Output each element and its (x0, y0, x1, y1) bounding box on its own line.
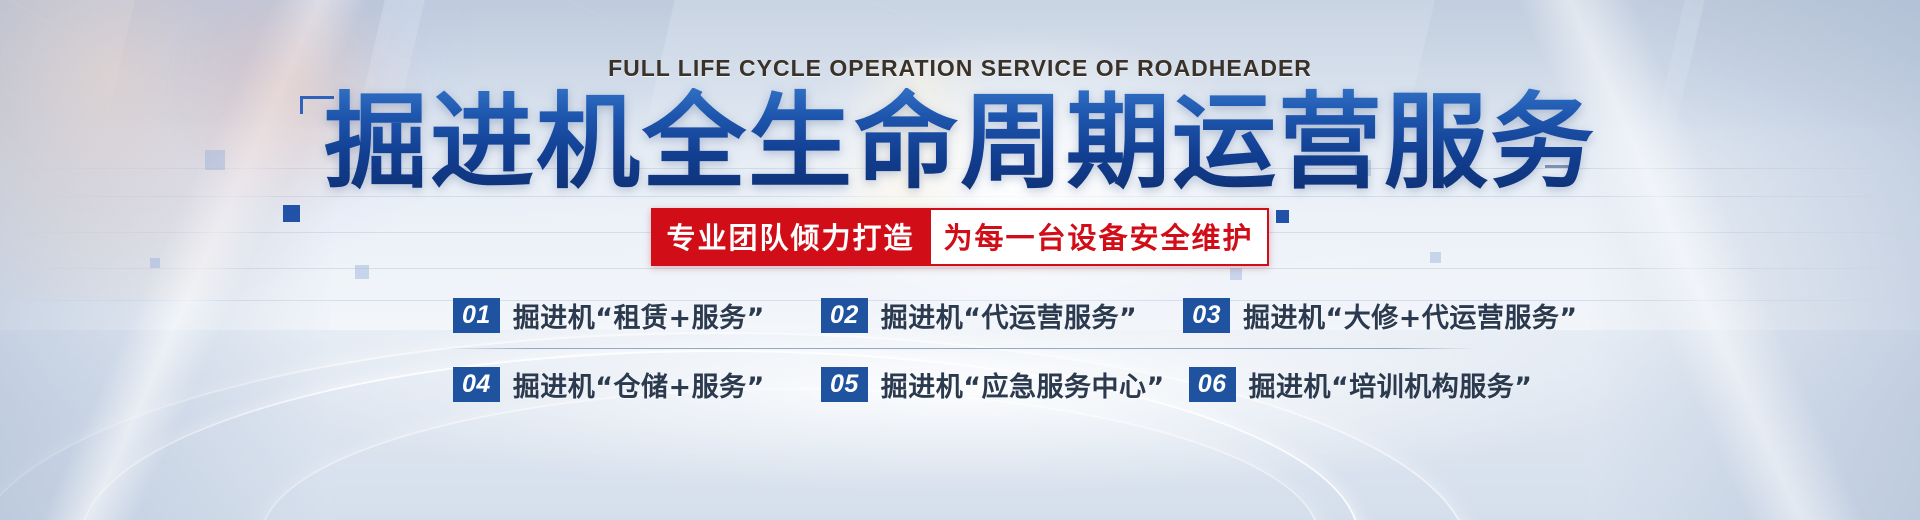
service-label: 掘进机“仓储+服务” (513, 365, 765, 404)
service-item-04[interactable]: 04 掘进机“仓储+服务” (453, 365, 765, 404)
service-item-03[interactable]: 03 掘进机“大修+代运营服务” (1183, 296, 1577, 335)
service-number-badge: 02 (821, 298, 868, 333)
service-item-02[interactable]: 02 掘进机“代运营服务” (821, 296, 1137, 335)
service-row-bottom: 04 掘进机“仓储+服务” 05 掘进机“应急服务中心” 06 掘进机“培训机构… (445, 365, 1475, 404)
slogan-badge-left: 专业团队倾力打造 (653, 210, 927, 264)
english-subtitle: FULL LIFE CYCLE OPERATION SERVICE OF ROA… (608, 55, 1312, 82)
service-item-05[interactable]: 05 掘进机“应急服务中心” (821, 365, 1165, 404)
banner-content: FULL LIFE CYCLE OPERATION SERVICE OF ROA… (0, 0, 1920, 520)
service-number-badge: 04 (453, 367, 500, 402)
slogan-badge-right: 为每一台设备安全维护 (931, 210, 1267, 264)
service-row-top: 01 掘进机“租赁+服务” 02 掘进机“代运营服务” 03 掘进机“大修+代运… (445, 296, 1475, 335)
roadheader-service-banner: FULL LIFE CYCLE OPERATION SERVICE OF ROA… (0, 0, 1920, 520)
service-number-badge: 01 (453, 298, 500, 333)
service-number-badge: 03 (1183, 298, 1230, 333)
service-label: 掘进机“租赁+服务” (513, 296, 765, 335)
service-number-badge: 05 (821, 367, 868, 402)
page-title: 掘进机全生命周期运营服务 (324, 88, 1596, 196)
service-label: 掘进机“大修+代运营服务” (1243, 296, 1578, 335)
service-number-badge: 06 (1189, 367, 1236, 402)
service-list-divider (445, 348, 1475, 349)
service-label: 掘进机“培训机构服务” (1249, 365, 1533, 404)
service-item-01[interactable]: 01 掘进机“租赁+服务” (453, 296, 765, 335)
service-label: 掘进机“应急服务中心” (881, 365, 1165, 404)
service-label: 掘进机“代运营服务” (881, 296, 1138, 335)
slogan-badge: 专业团队倾力打造 为每一台设备安全维护 (651, 208, 1268, 266)
service-list: 01 掘进机“租赁+服务” 02 掘进机“代运营服务” 03 掘进机“大修+代运… (445, 296, 1475, 404)
service-item-06[interactable]: 06 掘进机“培训机构服务” (1189, 365, 1533, 404)
